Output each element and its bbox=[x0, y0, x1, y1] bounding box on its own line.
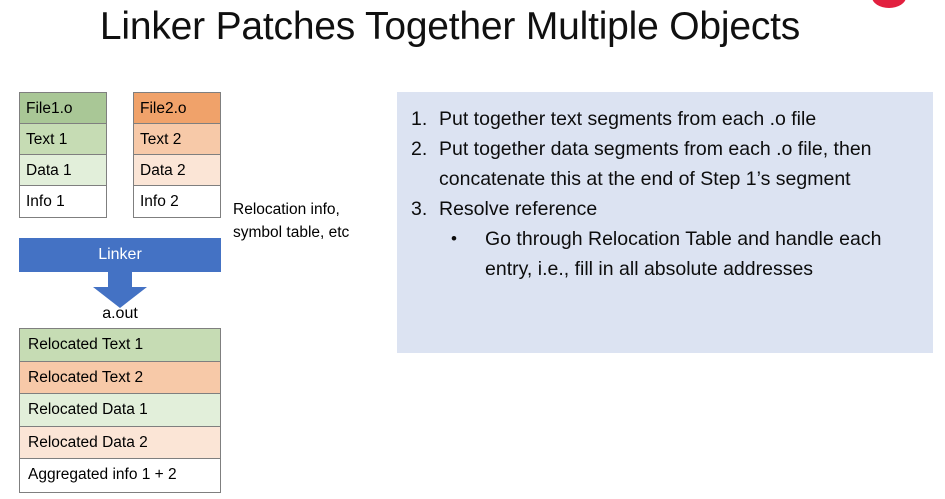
step-1-number: 1. bbox=[411, 104, 439, 134]
step-item-3: 3. Resolve reference bbox=[411, 194, 919, 224]
object-file-column-2: File2.o Text 2 Data 2 Info 2 bbox=[133, 92, 221, 218]
substep-1-text: Go through Relocation Table and handle e… bbox=[485, 224, 919, 284]
step-2-number: 2. bbox=[411, 134, 439, 164]
aout-table: Relocated Text 1 Relocated Text 2 Reloca… bbox=[19, 328, 221, 493]
aout-row-aggregated-info: Aggregated info 1 + 2 bbox=[20, 459, 220, 492]
objfile-2-cell-name: File2.o bbox=[134, 93, 220, 124]
objfile-2-cell-info: Info 2 bbox=[134, 186, 220, 217]
linker-box: Linker bbox=[19, 238, 221, 272]
step-3-text: Resolve reference bbox=[439, 194, 919, 224]
step-item-2: 2. Put together data segments from each … bbox=[411, 134, 919, 194]
aout-row-reloc-text-1: Relocated Text 1 bbox=[20, 329, 220, 362]
page-title: Linker Patches Together Multiple Objects bbox=[0, 2, 900, 52]
aout-label: a.out bbox=[19, 303, 221, 325]
objfile-2-cell-text: Text 2 bbox=[134, 124, 220, 155]
aout-row-reloc-data-2: Relocated Data 2 bbox=[20, 427, 220, 460]
objfile-2-cell-data: Data 2 bbox=[134, 155, 220, 186]
bullet-icon: • bbox=[451, 224, 485, 254]
relocation-note-label: Relocation info, symbol table, etc bbox=[233, 198, 353, 244]
step-1-text: Put together text segments from each .o … bbox=[439, 104, 919, 134]
steps-panel: 1. Put together text segments from each … bbox=[397, 92, 933, 353]
objfile-1-cell-data: Data 1 bbox=[20, 155, 106, 186]
step-item-1: 1. Put together text segments from each … bbox=[411, 104, 919, 134]
aout-row-reloc-data-1: Relocated Data 1 bbox=[20, 394, 220, 427]
objfile-1-cell-name: File1.o bbox=[20, 93, 106, 124]
objfile-1-cell-text: Text 1 bbox=[20, 124, 106, 155]
step-3-number: 3. bbox=[411, 194, 439, 224]
aout-row-reloc-text-2: Relocated Text 2 bbox=[20, 362, 220, 395]
objfile-1-cell-info: Info 1 bbox=[20, 186, 106, 217]
object-file-column-1: File1.o Text 1 Data 1 Info 1 bbox=[19, 92, 107, 218]
substep-item-1: • Go through Relocation Table and handle… bbox=[451, 224, 919, 284]
step-2-text: Put together data segments from each .o … bbox=[439, 134, 919, 194]
